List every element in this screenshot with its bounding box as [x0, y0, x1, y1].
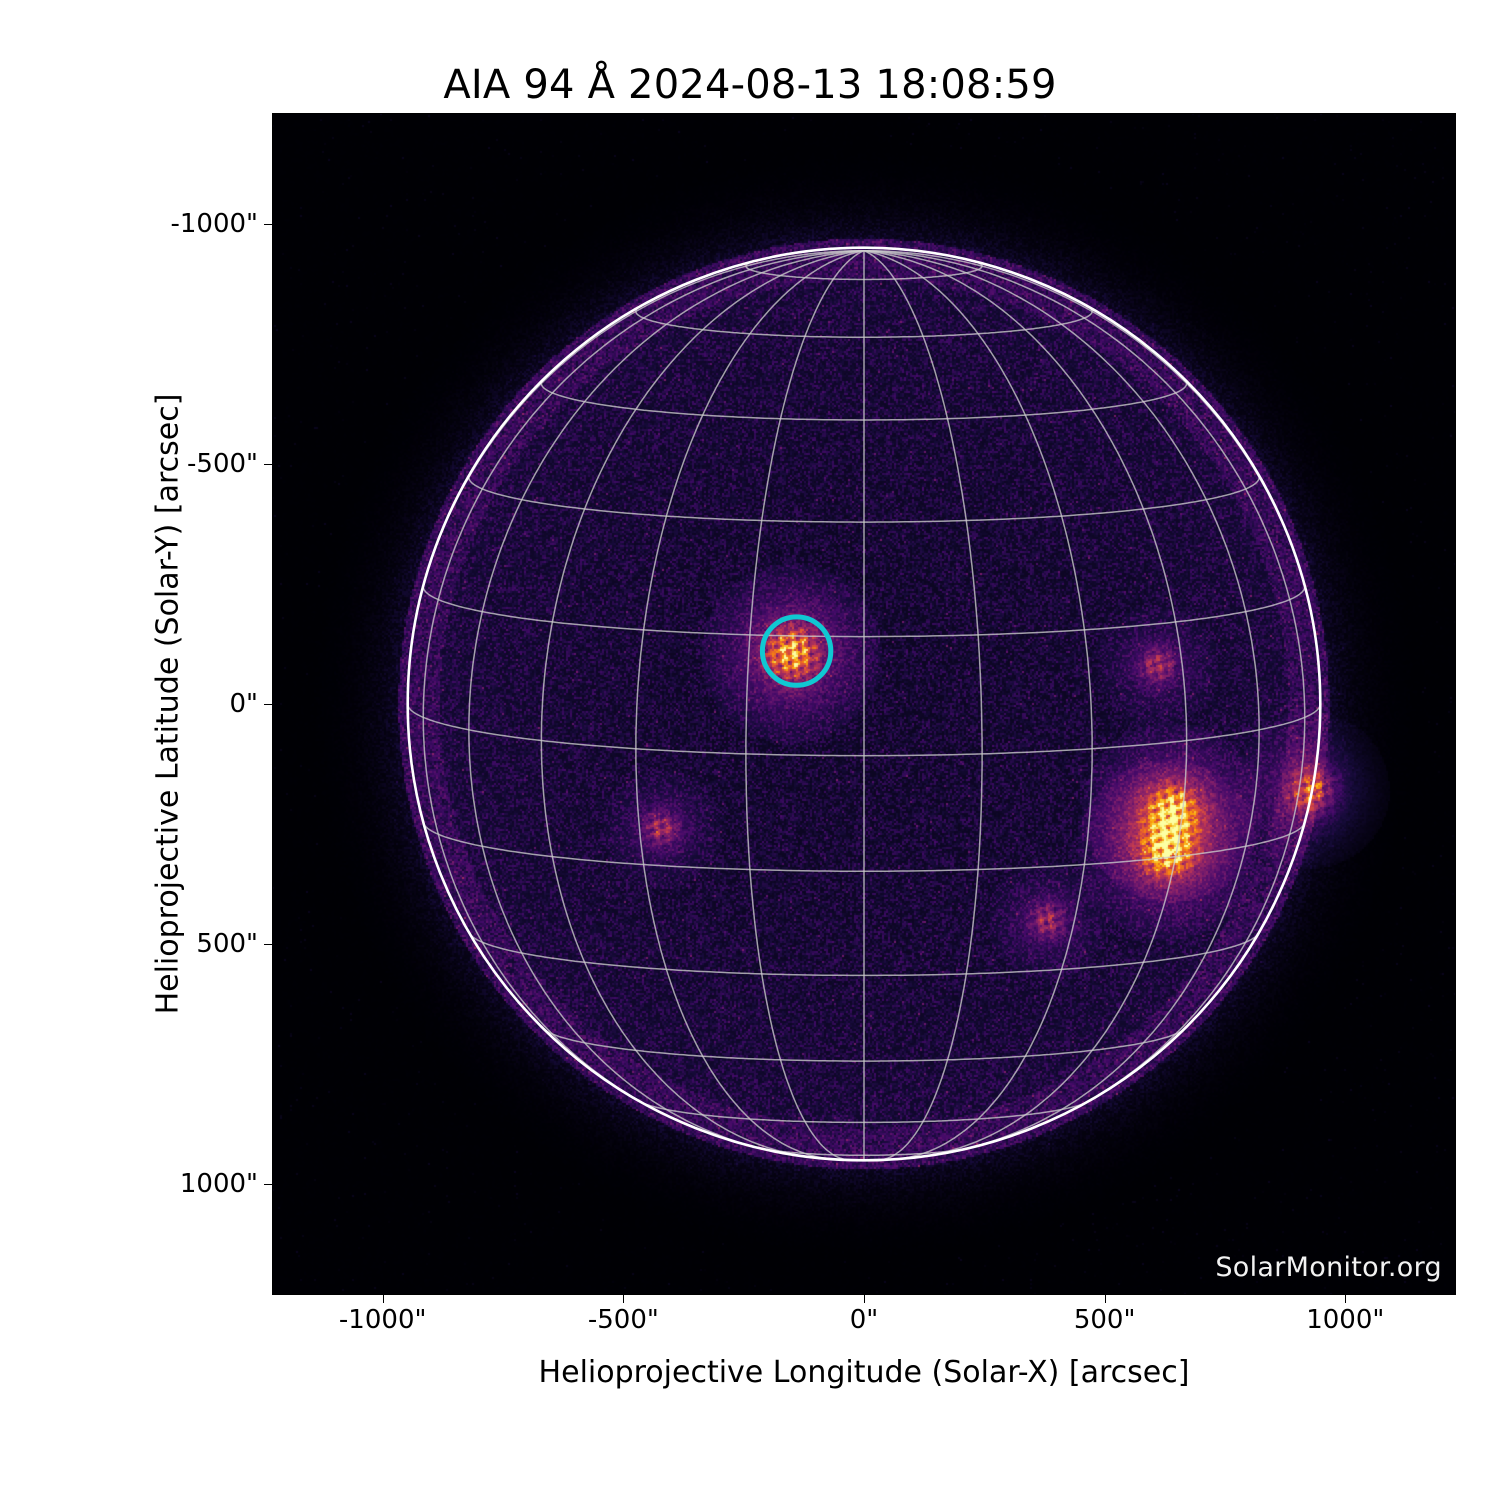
- grid-line: [864, 251, 1305, 1134]
- grid-line: [469, 251, 864, 1154]
- grid-line: [408, 251, 864, 781]
- grid-line: [541, 251, 864, 1158]
- grid-line: [864, 251, 1320, 781]
- grid-line: [864, 251, 1259, 1154]
- y-tick-label: -500": [187, 449, 258, 479]
- x-tick: [864, 1295, 865, 1303]
- grid-line: [746, 251, 864, 1160]
- overlay-svg: [272, 113, 1456, 1295]
- grid-line: [864, 251, 1092, 1160]
- y-tick-label: 1000": [180, 1169, 258, 1199]
- x-tick: [383, 1295, 384, 1303]
- x-tick-label: 1000": [1306, 1305, 1384, 1335]
- y-tick-label: 500": [196, 929, 258, 959]
- y-axis-label: Helioprojective Latitude (Solar-Y) [arcs…: [151, 394, 186, 1015]
- y-tick: [264, 944, 272, 945]
- solarmonitor-watermark: SolarMonitor.org: [1215, 1252, 1442, 1283]
- y-tick: [264, 1184, 272, 1185]
- x-tick: [623, 1295, 624, 1303]
- y-tick: [264, 464, 272, 465]
- grid-line: [864, 251, 1187, 1158]
- grid-line: [636, 251, 864, 1160]
- y-tick: [264, 224, 272, 225]
- grid-line: [423, 251, 864, 1134]
- active-region-marker-circle[interactable]: [762, 617, 830, 685]
- x-tick: [1345, 1295, 1346, 1303]
- y-tick-label: -1000": [170, 209, 258, 239]
- x-axis-label: Helioprojective Longitude (Solar-X) [arc…: [272, 1355, 1456, 1390]
- x-tick-label: -500": [588, 1305, 659, 1335]
- x-tick-label: 500": [1074, 1305, 1136, 1335]
- heliographic-grid: [408, 251, 1321, 1161]
- grid-line: [864, 251, 982, 1160]
- figure-title: AIA 94 Å 2024-08-13 18:08:59: [0, 62, 1500, 108]
- solar-image-figure: AIA 94 Å 2024-08-13 18:08:59 SolarMonito…: [0, 0, 1500, 1500]
- x-tick-label: -1000": [339, 1305, 427, 1335]
- x-tick: [1105, 1295, 1106, 1303]
- y-tick: [264, 704, 272, 705]
- solar-image-plot-area[interactable]: SolarMonitor.org: [272, 113, 1456, 1295]
- x-tick-label: 0": [850, 1305, 879, 1335]
- y-tick-label: 0": [229, 689, 258, 719]
